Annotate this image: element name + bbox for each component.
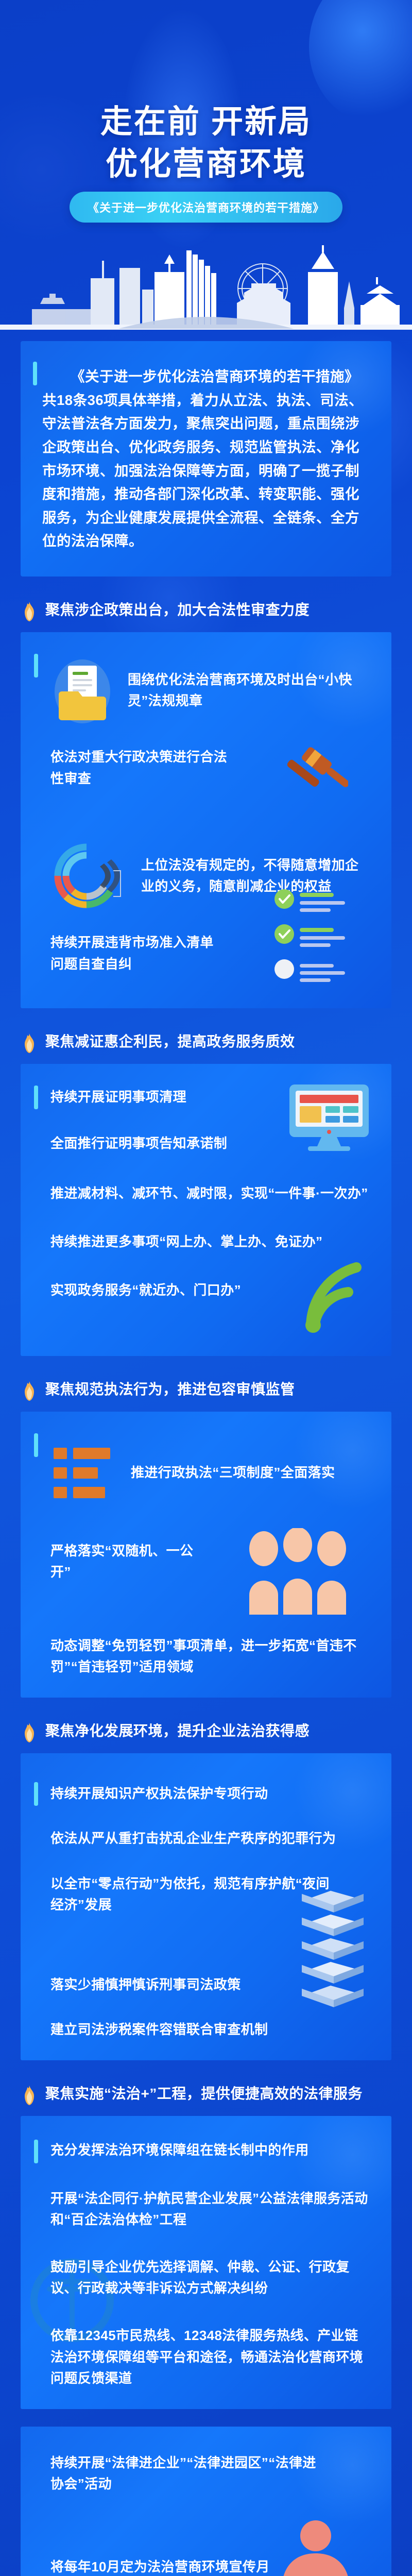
accent-tick: [34, 1086, 38, 1109]
measure-item: 严格落实“双随机、一公开”: [50, 1540, 371, 1607]
hero-banner: 走在前 开新局 优化营商环境 《关于进一步优化法治营商环境的若干措施》: [0, 0, 412, 330]
measure-text: 依法从严从重打击扰乱企业生产秩序的犯罪行为: [50, 1828, 371, 1850]
measure-text: 推进减材料、减环节、减时限，实现“一件事·一次办”: [50, 1183, 371, 1205]
measure-item: 推进行政执法“三项制度”全面落实: [50, 1434, 371, 1512]
wifi-signal-icon: [299, 1250, 366, 1337]
checklist-icon: [271, 887, 353, 985]
measure-item: 实现政务服务“就近办、门口办”: [50, 1280, 371, 1336]
document-folder-icon: [50, 654, 114, 726]
list-bars-icon: [50, 1445, 117, 1501]
measure-item: 落实少捕慎押慎诉刑事司法政策: [50, 1974, 281, 1996]
measure-item: 鼓励引导企业优先选择调解、仲裁、公证、行政复议、行政裁决等非诉讼方式解决纠纷: [50, 2257, 371, 2299]
section-card-3: 推进行政执法“三项制度”全面落实 严格落实“双随机、一公开” 动态调整“免罚轻罚…: [21, 1412, 391, 1698]
measure-text: 严格落实“双随机、一公开”: [50, 1540, 211, 1583]
section-card-5a: 充分发挥法治环境保障组在链长制中的作用 开展“法企同行·护航民营企业发展”公益法…: [21, 2116, 391, 2409]
measure-text: 持续开展知识产权执法保护专项行动: [50, 1783, 371, 1805]
section-card-2: 持续开展证明事项清理 全面推行证明事项告知承诺制 推进减材料、减环节、减时限，实…: [21, 1064, 391, 1355]
measure-text: 落实少捕慎押慎诉刑事司法政策: [50, 1974, 281, 1996]
measure-item: 持续开展证明事项清理: [50, 1087, 249, 1108]
flame-icon: [21, 1722, 38, 1743]
donut-chart-icon: [50, 840, 128, 912]
measure-text: 持续开展“法律进企业”“法律进园区”“法律进协会”活动: [50, 2452, 319, 2495]
measure-item: 依靠12345市民热线、12348法律服务热线、产业链法治环境保障组等平台和途径…: [50, 2325, 371, 2389]
measure-text: 动态调整“免罚轻罚”事项清单，进一步拓宽“首违不罚”“首违轻罚”适用领域: [50, 1635, 371, 1678]
measure-item: 依法对重大行政决策进行合法性审查: [50, 747, 371, 808]
intro-panel: 《关于进一步优化法治营商环境的若干措施》共18条36项具体举措，着力从立法、执法…: [21, 341, 391, 577]
section-heading: 聚焦涉企政策出台，加大合法性审查力度: [45, 600, 310, 620]
section-header-2: 聚焦减证惠企利民，提高政务服务质效: [21, 1032, 391, 1054]
section-heading: 聚焦规范执法行为，推进包容审慎监管: [45, 1380, 295, 1400]
accent-tick: [34, 654, 38, 677]
measure-text: 全面推行证明事项告知承诺制: [50, 1133, 262, 1155]
measure-text: 围绕优化法治营商环境及时出台“小快灵”法规规章: [128, 669, 371, 712]
measure-item: 持续开展知识产权执法保护专项行动: [50, 1783, 371, 1805]
flame-icon: [21, 601, 38, 622]
measure-item: 持续开展“法律进企业”“法律进园区”“法律进协会”活动: [50, 2452, 371, 2530]
measure-text: 开展“法企同行·护航民营企业发展”公益法律服务活动和“百企法治体检”工程: [50, 2188, 371, 2231]
section-header-3: 聚焦规范执法行为，推进包容审慎监管: [21, 1380, 391, 1401]
section-card-1: 围绕优化法治营商环境及时出台“小快灵”法规规章 依法对重大行政决策进行合法性审查: [21, 632, 391, 1008]
section-heading: 聚焦减证惠企利民，提高政务服务质效: [45, 1032, 295, 1052]
accent-tick: [34, 2140, 38, 2163]
document-title-text: 《关于进一步优化法治营商环境的若干措施》: [88, 199, 324, 215]
measure-text: 将每年10月定为法治营商环境宣传月: [50, 2556, 294, 2576]
section-heading: 聚焦实施“法治+”工程，提供便捷高效的法律服务: [45, 2084, 363, 2104]
measure-item: 推进减材料、减环节、减时限，实现“一件事·一次办”: [50, 1183, 371, 1205]
measure-text: 鼓励引导企业优先选择调解、仲裁、公证、行政复议、行政裁决等非诉讼方式解决纠纷: [50, 2257, 371, 2299]
measure-item: 充分发挥法治环境保障组在链长制中的作用: [50, 2140, 371, 2161]
measure-text: 持续开展违背市场准入清单问题自查自纠: [50, 932, 227, 975]
measure-text: 充分发挥法治环境保障组在链长制中的作用: [50, 2140, 371, 2161]
section-header-4: 聚焦净化发展环境，提升企业法治获得感: [21, 1721, 391, 1743]
flame-icon: [21, 2085, 38, 2106]
books-stack-icon: [291, 1890, 374, 2008]
accent-tick: [34, 1782, 38, 1806]
page-title: 走在前 开新局 优化营商环境: [0, 101, 412, 185]
measure-item: 建立司法涉税案件容错联合审查机制: [50, 2019, 294, 2041]
measure-item: 围绕优化法治营商环境及时出台“小快灵”法规规章: [50, 652, 371, 729]
section-card-4: 持续开展知识产权执法保护专项行动 依法从严从重打击扰乱企业生产秩序的犯罪行为 以…: [21, 1753, 391, 2060]
measure-text: 推进行政执法“三项制度”全面落实: [131, 1462, 371, 1484]
measure-text: 依靠12345市民热线、12348法律服务热线、产业链法治环境保障组等平台和途径…: [50, 2325, 371, 2389]
measure-text: 实现政务服务“就近办、门口办”: [50, 1280, 307, 1301]
accent-tick: [34, 1433, 38, 1457]
intro-paragraph: 《关于进一步优化法治营商环境的若干措施》共18条36项具体举措，着力从立法、执法…: [42, 365, 370, 553]
measure-item: 开展“法企同行·护航民营企业发展”公益法律服务活动和“百企法治体检”工程: [50, 2188, 371, 2231]
measure-text: 依法对重大行政决策进行合法性审查: [50, 747, 236, 789]
section-card-5b: 持续开展“法律进企业”“法律进园区”“法律进协会”活动 将每年10月定为法治营商…: [21, 2427, 391, 2576]
city-skyline-illustration: [0, 232, 412, 330]
measure-text: 持续开展证明事项清理: [50, 1087, 249, 1108]
monitor-icon: [285, 1082, 373, 1155]
page-title-line2: 优化营商环境: [0, 143, 412, 185]
measure-item: 以全市“零点行动”为依托，规范有序护航“夜间经济”发展: [50, 1873, 371, 1951]
gavel-icon: [276, 743, 348, 810]
document-title-pill: 《关于进一步优化法治营商环境的若干措施》: [70, 192, 342, 223]
section-header-1: 聚焦涉企政策出台，加大合法性审查力度: [21, 600, 391, 622]
measure-item: 全面推行证明事项告知承诺制: [50, 1133, 262, 1155]
infographic-poster: 走在前 开新局 优化营商环境 《关于进一步优化法治营商环境的若干措施》: [0, 0, 412, 2576]
measure-item: 将每年10月定为法治营商环境宣传月: [50, 2556, 294, 2576]
measure-item: 持续开展违背市场准入清单问题自查自纠: [50, 932, 371, 989]
section-header-5: 聚焦实施“法治+”工程，提供便捷高效的法律服务: [21, 2084, 391, 2106]
people-group-icon: [247, 1528, 350, 1616]
flame-icon: [21, 1033, 38, 1054]
page-title-line1: 走在前 开新局: [100, 104, 312, 140]
measure-item: 依法从严从重打击扰乱企业生产秩序的犯罪行为: [50, 1828, 371, 1850]
measure-item: 动态调整“免罚轻罚”事项清单，进一步拓宽“首违不罚”“首违轻罚”适用领域: [50, 1635, 371, 1678]
section-heading: 聚焦净化发展环境，提升企业法治获得感: [45, 1721, 310, 1741]
measure-text: 建立司法涉税案件容错联合审查机制: [50, 2019, 294, 2041]
accent-tick: [33, 362, 37, 385]
flame-icon: [21, 1381, 38, 1401]
